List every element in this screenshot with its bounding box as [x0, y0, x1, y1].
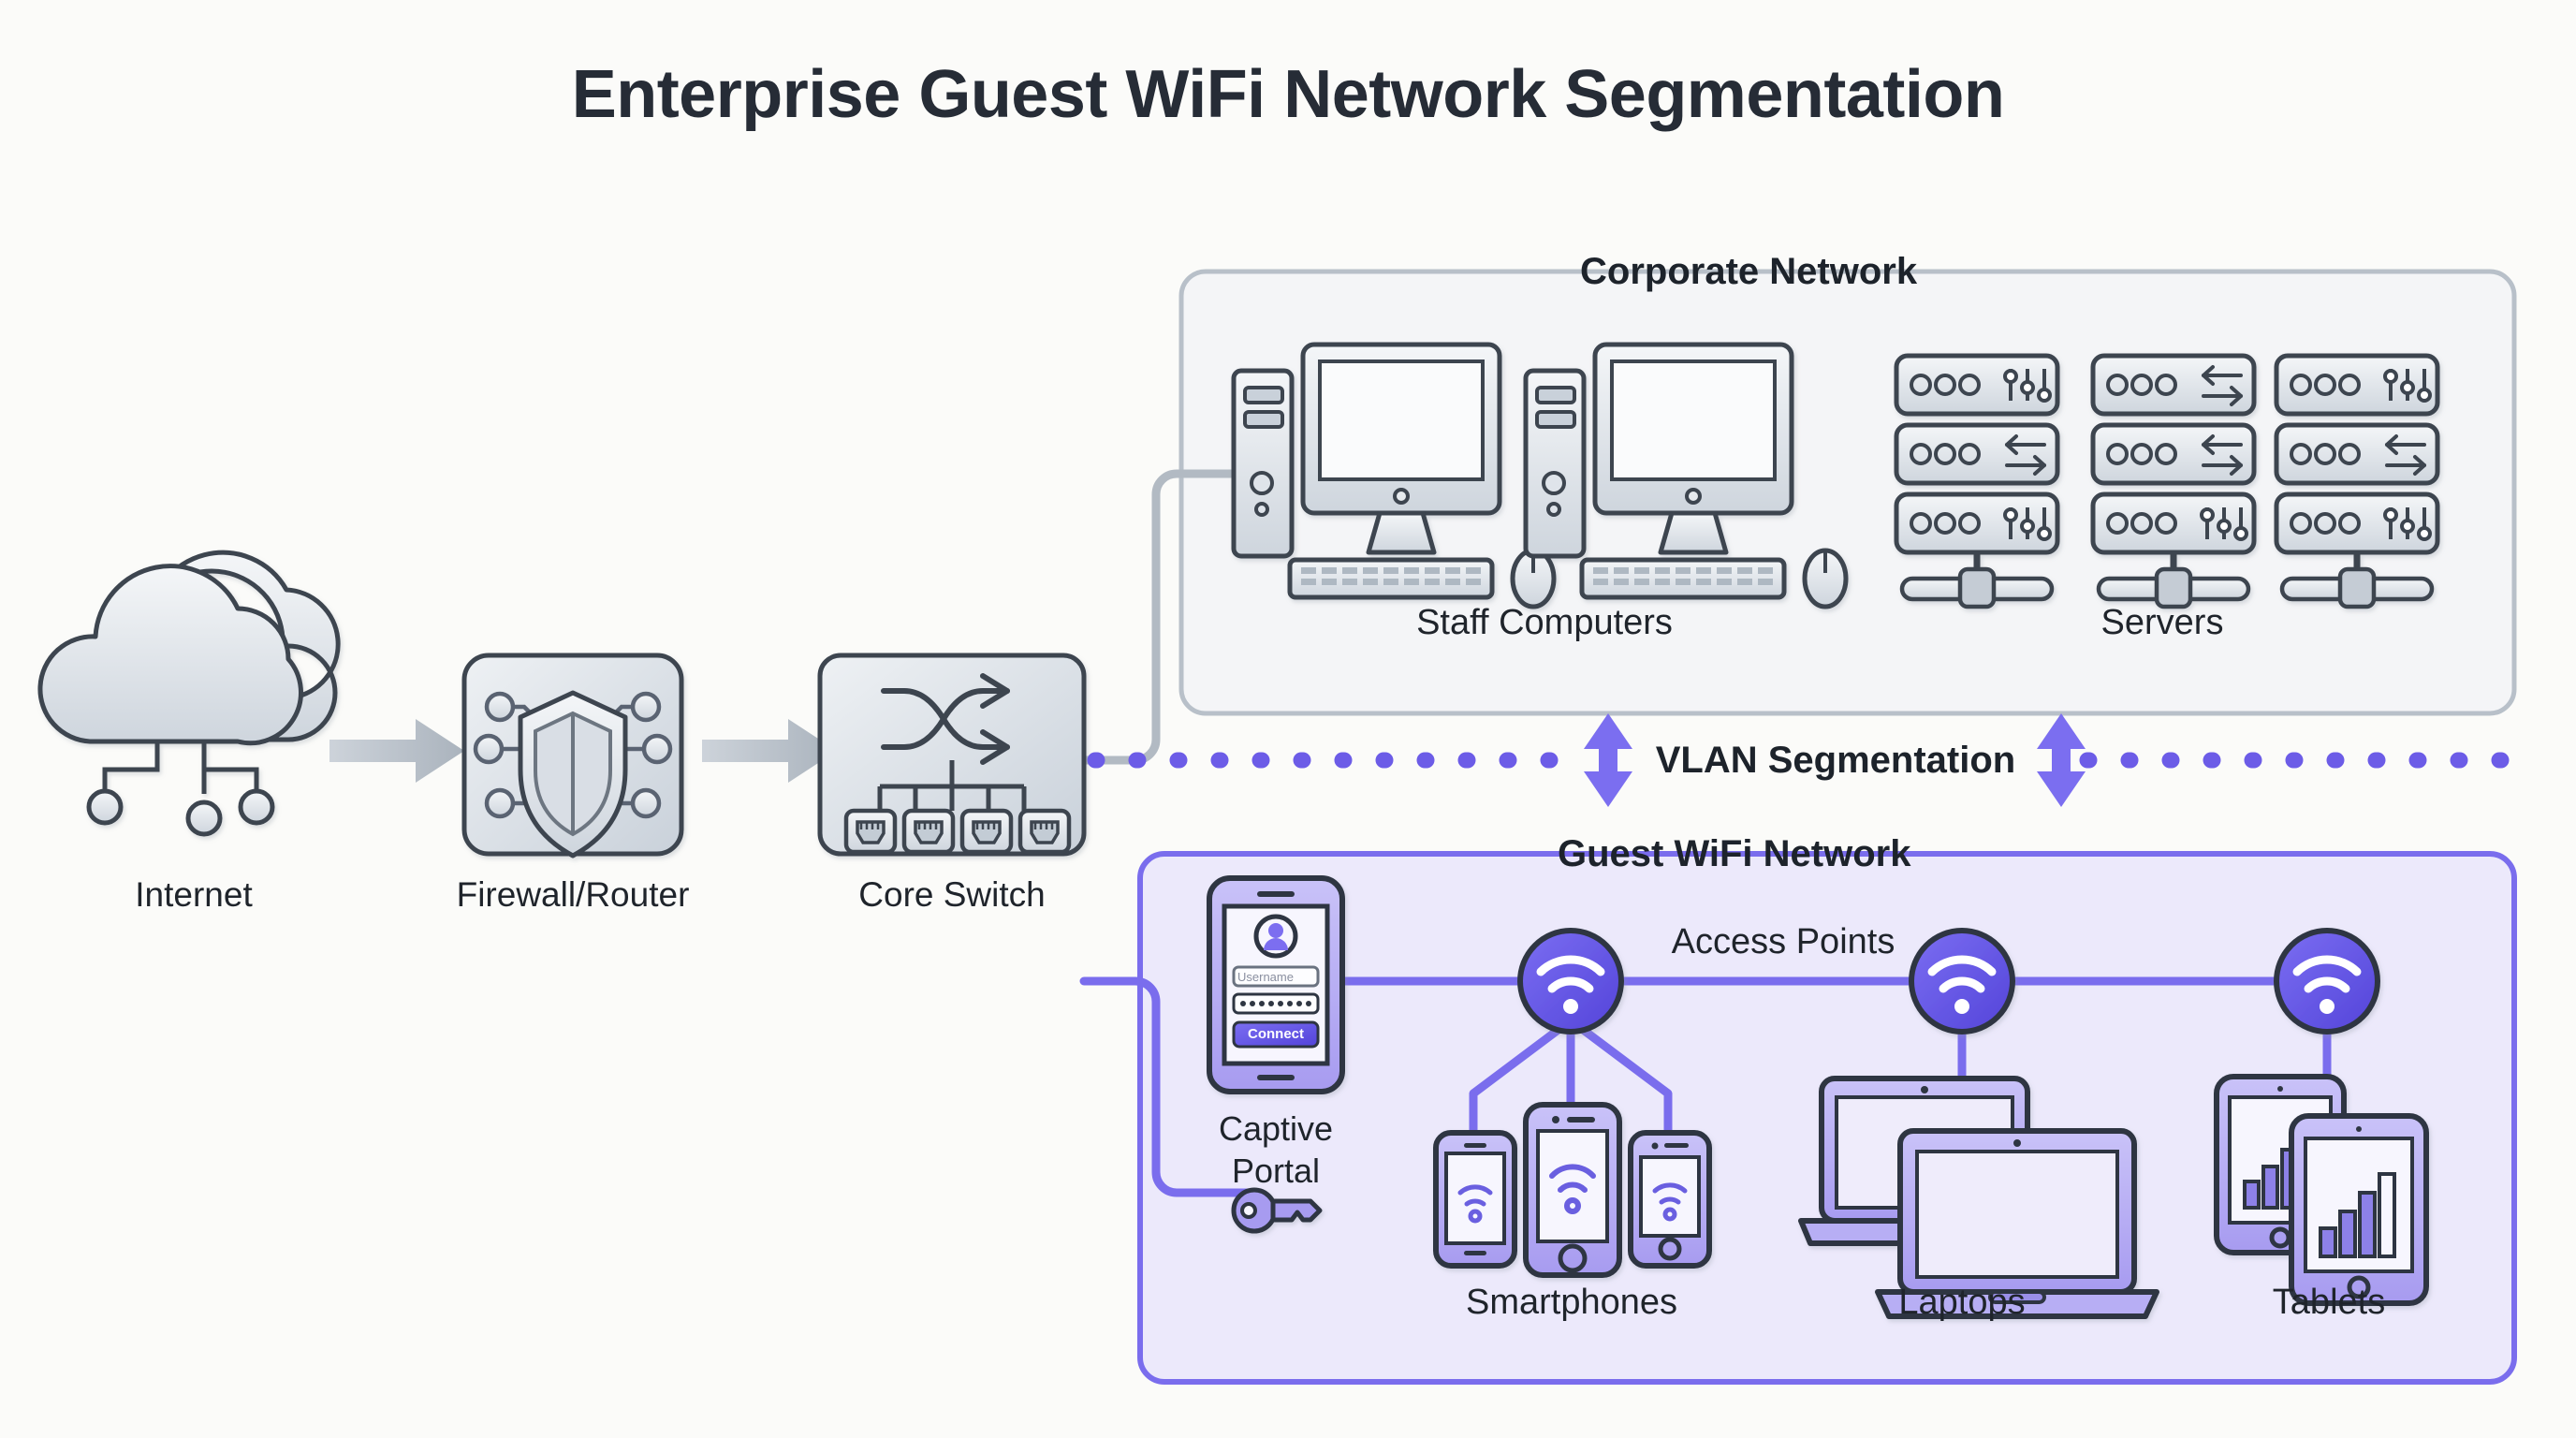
server-rack-icon [1896, 356, 2437, 607]
guest-panel-title: Guest WiFi Network [1558, 833, 1803, 875]
cloud-icon [40, 552, 338, 834]
smartphone-icon [1436, 1105, 1709, 1275]
node-label-internet: Internet [0, 875, 388, 915]
flow-arrow-internet-firewall [329, 719, 464, 783]
captive-portal-label-line1: Captive [1156, 1109, 1396, 1148]
access-point-3 [2276, 931, 2378, 1032]
corporate-panel-title: Corporate Network [1580, 251, 1816, 293]
portal-username-input[interactable]: Username [1237, 970, 1318, 984]
node-label-switch: Core Switch [765, 875, 1139, 915]
portal-connect-button[interactable]: Connect [1234, 1026, 1318, 1042]
group-label-laptops: Laptops [1803, 1283, 2121, 1323]
captive-portal-label-line2: Portal [1156, 1152, 1396, 1190]
shield-circuit-icon [464, 655, 681, 856]
node-label-firewall: Firewall/Router [386, 875, 760, 915]
group-label-servers: Servers [1975, 603, 2349, 643]
access-points-label: Access Points [1619, 922, 1947, 962]
switch-ports-icon [820, 655, 1084, 854]
group-label-smartphones: Smartphones [1389, 1283, 1754, 1323]
access-point-1 [1520, 931, 1621, 1032]
flow-arrow-firewall-switch [702, 719, 837, 783]
group-label-staff-computers: Staff Computers [1357, 603, 1732, 643]
desktop-computer-icon [1234, 345, 1846, 607]
group-label-tablets: Tablets [2170, 1283, 2488, 1323]
vlan-segmentation-label: VLAN Segmentation [1625, 740, 2046, 782]
diagram-canvas: Enterprise Guest WiFi Network Segmentati… [0, 0, 2576, 1438]
diagram-graphics [0, 0, 2576, 1438]
